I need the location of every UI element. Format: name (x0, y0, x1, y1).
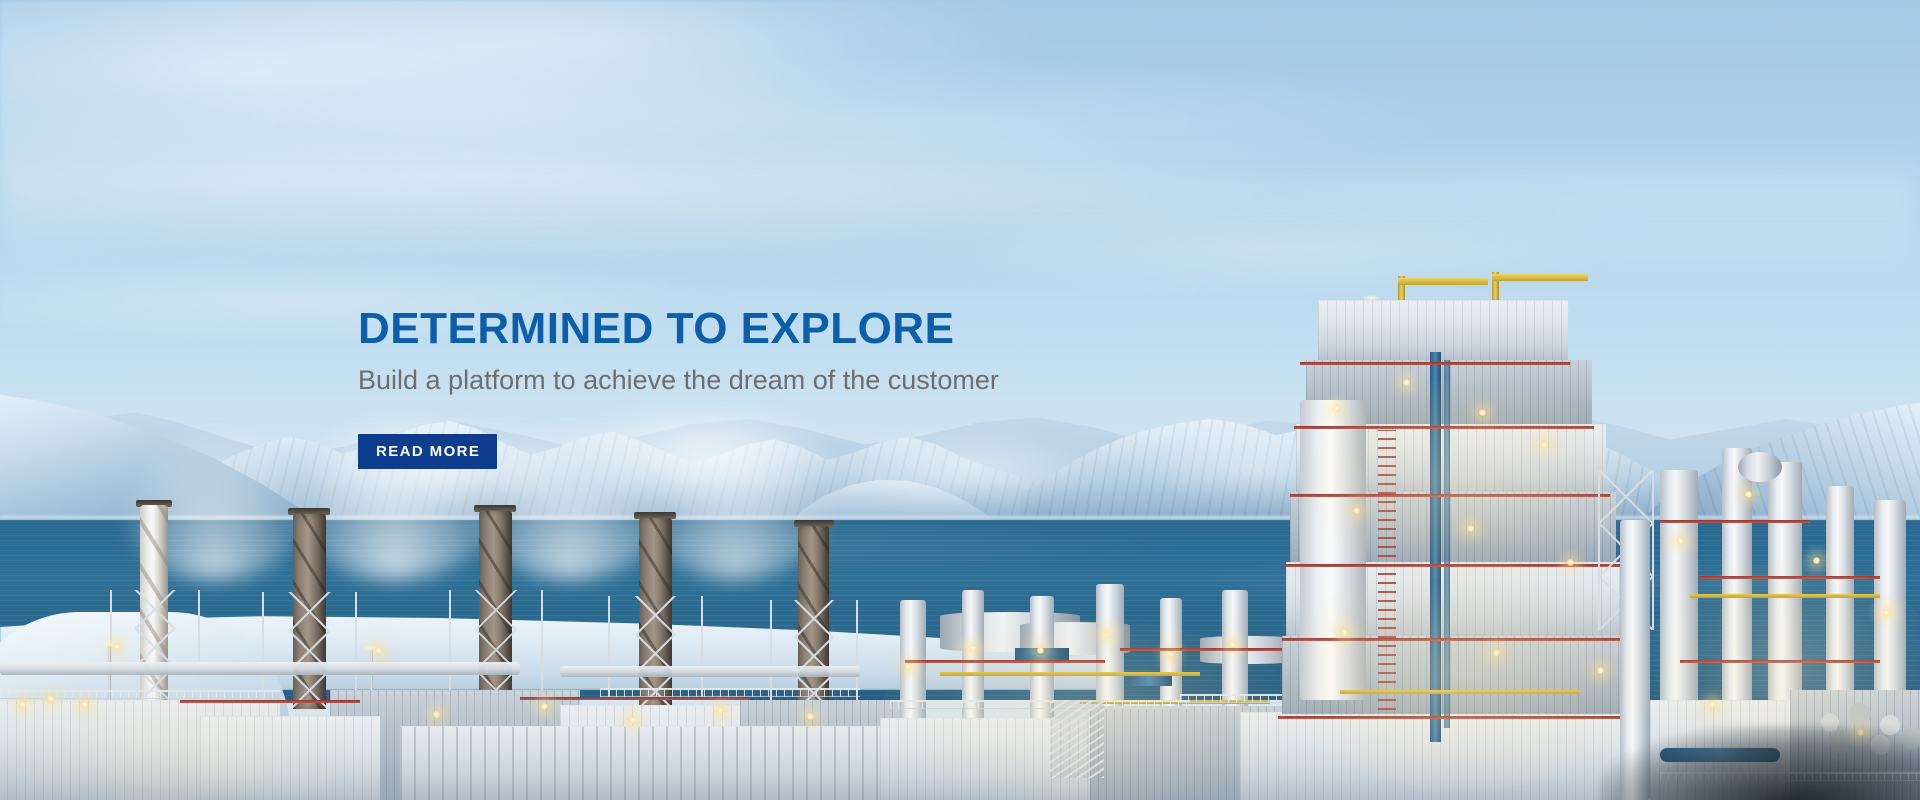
lamp-16 (1228, 640, 1237, 649)
foreground-shadow (1600, 726, 1920, 800)
blue-pipe-2 (1128, 676, 1172, 686)
lamp-1 (18, 700, 27, 709)
lamp-26 (1596, 666, 1605, 675)
process-building-left-3 (200, 716, 380, 800)
tower-rail-2 (1294, 426, 1594, 429)
deck-rail-red-3 (905, 660, 1105, 663)
lamp-21 (1352, 506, 1361, 515)
lamp-29 (1812, 556, 1821, 565)
access-stair-1 (1050, 700, 1104, 778)
pipe-rack-shore (0, 662, 520, 675)
right-rail-1 (1660, 520, 1810, 523)
lamp-12 (968, 644, 977, 653)
crane-jib-right (1492, 274, 1588, 281)
lamp-5 (374, 646, 383, 655)
lamp-2 (46, 694, 55, 703)
lamp-10 (806, 712, 815, 721)
stack-support-truss-1 (110, 590, 200, 705)
hero-copy-block: DETERMINED TO EXPLORE Build a platform t… (358, 306, 1078, 469)
tower-rail-1 (1300, 362, 1570, 365)
lamp-18 (1402, 378, 1411, 387)
lamp-19 (1478, 408, 1487, 417)
lamp-14 (1102, 630, 1111, 639)
tower-rail-5 (1282, 638, 1626, 641)
lamp-24 (1340, 628, 1349, 637)
lamp-20 (1540, 440, 1549, 449)
right-rail-2 (1700, 576, 1880, 579)
lamp-7 (540, 702, 549, 711)
lamp-13 (1036, 646, 1045, 655)
hero-subtitle: Build a platform to achieve the dream of… (358, 364, 1078, 396)
process-hall-corrugated (400, 726, 960, 800)
tower-silo (1300, 400, 1366, 700)
tower-deck-7 (1278, 714, 1634, 800)
deck-rail-red-4 (1120, 648, 1290, 651)
right-rail-3 (1680, 660, 1880, 663)
lamp-4 (112, 642, 121, 651)
lamp-15 (1166, 650, 1175, 659)
tower-blue-riser (1430, 352, 1441, 742)
deck-rail-red-2 (520, 697, 750, 700)
page-title: DETERMINED TO EXPLORE (358, 306, 1078, 353)
right-yellow-pipe (1690, 594, 1880, 598)
right-vessel-head (1738, 452, 1782, 482)
read-more-button[interactable]: READ MORE (358, 434, 497, 469)
tower-deck-1 (1318, 300, 1568, 364)
deck-railing-2 (600, 688, 860, 697)
pipe-rack-shore-2 (560, 666, 860, 677)
lamp-30 (1882, 608, 1891, 617)
hero-banner: DETERMINED TO EXPLORE Build a platform t… (0, 0, 1920, 800)
deck-rail-red-1 (180, 700, 360, 703)
lamp-11 (904, 662, 913, 671)
tower-rail-6 (1278, 716, 1630, 719)
lamp-23 (1566, 558, 1575, 567)
tower-yellow-pipe (1340, 690, 1580, 694)
lamp-17 (1332, 404, 1341, 413)
lamp-8 (628, 716, 637, 725)
tower-rail-3 (1290, 494, 1610, 497)
tower-blue-riser-2 (1444, 360, 1450, 728)
lamp-31 (1708, 700, 1717, 709)
lamp-27 (1676, 536, 1685, 545)
tower-ladder (1378, 430, 1396, 710)
lamp-9 (716, 706, 725, 715)
deck-railing-1 (0, 690, 280, 699)
lamp-28 (1744, 490, 1753, 499)
deck-railing-3 (890, 700, 1190, 709)
lamp-3 (80, 700, 89, 709)
lamp-6 (432, 710, 441, 719)
lamp-22 (1466, 524, 1475, 533)
lamp-25 (1492, 648, 1501, 657)
crane-jib-left (1398, 278, 1488, 285)
